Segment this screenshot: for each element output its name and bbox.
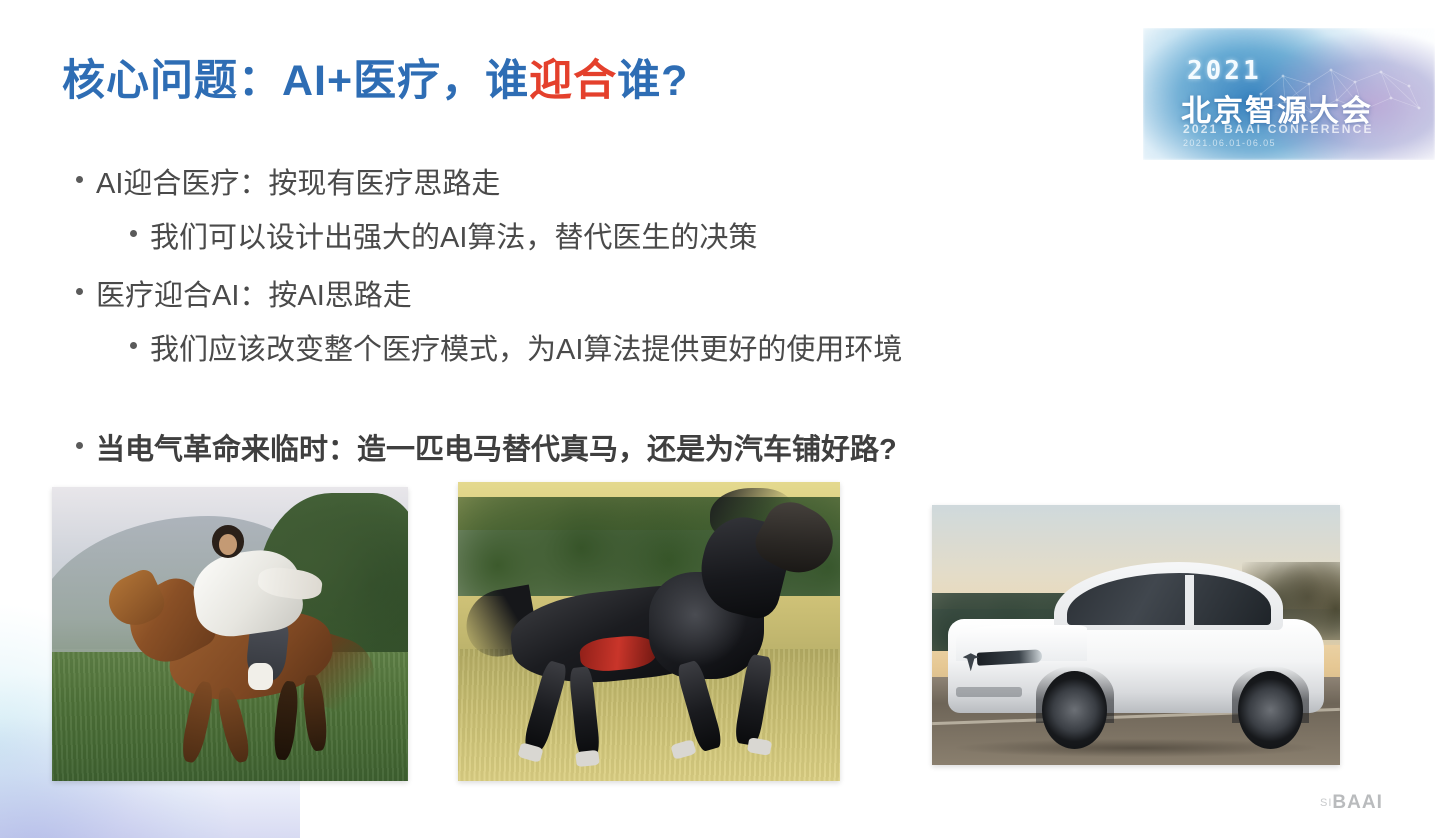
slide-title-part-2: 谁? xyxy=(617,57,688,105)
bullet-item: 医疗迎合AI：按AI思路走 xyxy=(76,272,1122,314)
bullet-spacer xyxy=(62,384,1122,426)
slide-title-part-1: 核心问题：AI+医疗，谁 xyxy=(62,57,529,105)
logo-year: 2021 xyxy=(1187,56,1262,86)
bullet-item: 我们应该改变整个医疗模式，为AI算法提供更好的使用环境 xyxy=(130,326,1122,368)
bullet-dot-icon xyxy=(130,230,137,237)
image-white-electric-car xyxy=(932,505,1340,765)
bullet-dot-icon xyxy=(76,176,83,183)
baai-watermark: SIBAAI xyxy=(1320,792,1383,814)
presentation-slide: 核心问题：AI+医疗，谁迎合谁? 2021 北京智源大会 2021 BA xyxy=(0,0,1447,838)
bullet-text: 我们可以设计出强大的AI算法，替代医生的决策 xyxy=(150,214,757,256)
bullet-dot-icon xyxy=(130,342,137,349)
bullet-item: 我们可以设计出强大的AI算法，替代医生的决策 xyxy=(130,214,1122,256)
watermark-prefix: SI xyxy=(1320,797,1332,809)
bullet-dot-icon xyxy=(76,442,83,449)
slide-body: AI迎合医疗：按现有医疗思路走 我们可以设计出强大的AI算法，替代医生的决策 医… xyxy=(62,160,1122,480)
image-rider-on-real-horse xyxy=(52,487,408,781)
bullet-item: AI迎合医疗：按现有医疗思路走 xyxy=(76,160,1122,202)
bullet-dot-icon xyxy=(76,288,83,295)
slide-title: 核心问题：AI+医疗，谁迎合谁? xyxy=(62,58,688,105)
rider-boot xyxy=(248,663,273,689)
robot-horse-hoof xyxy=(576,750,600,767)
image-robotic-horse xyxy=(458,482,840,781)
watermark-text: BAAI xyxy=(1332,792,1382,813)
conference-logo: 2021 北京智源大会 2021 BAAI CONFERENCE 2021.06… xyxy=(1143,28,1435,160)
logo-date: 2021.06.01-06.05 xyxy=(1183,138,1276,148)
bullet-text: 医疗迎合AI：按AI思路走 xyxy=(96,272,412,314)
logo-name-english: 2021 BAAI CONFERENCE xyxy=(1183,122,1374,136)
bullet-item-emphasis: 当电气革命来临时：造一匹电马替代真马，还是为汽车铺好路? xyxy=(76,426,1122,468)
bullet-text: 当电气革命来临时：造一匹电马替代真马，还是为汽车铺好路? xyxy=(96,426,897,468)
slide-title-highlight: 迎合 xyxy=(529,57,617,105)
bullet-text: AI迎合医疗：按现有医疗思路走 xyxy=(96,160,500,202)
bullet-text: 我们应该改变整个医疗模式，为AI算法提供更好的使用环境 xyxy=(150,326,902,368)
car-grille xyxy=(956,687,1021,697)
rider-face xyxy=(219,534,237,555)
car-pillar xyxy=(1185,575,1194,624)
